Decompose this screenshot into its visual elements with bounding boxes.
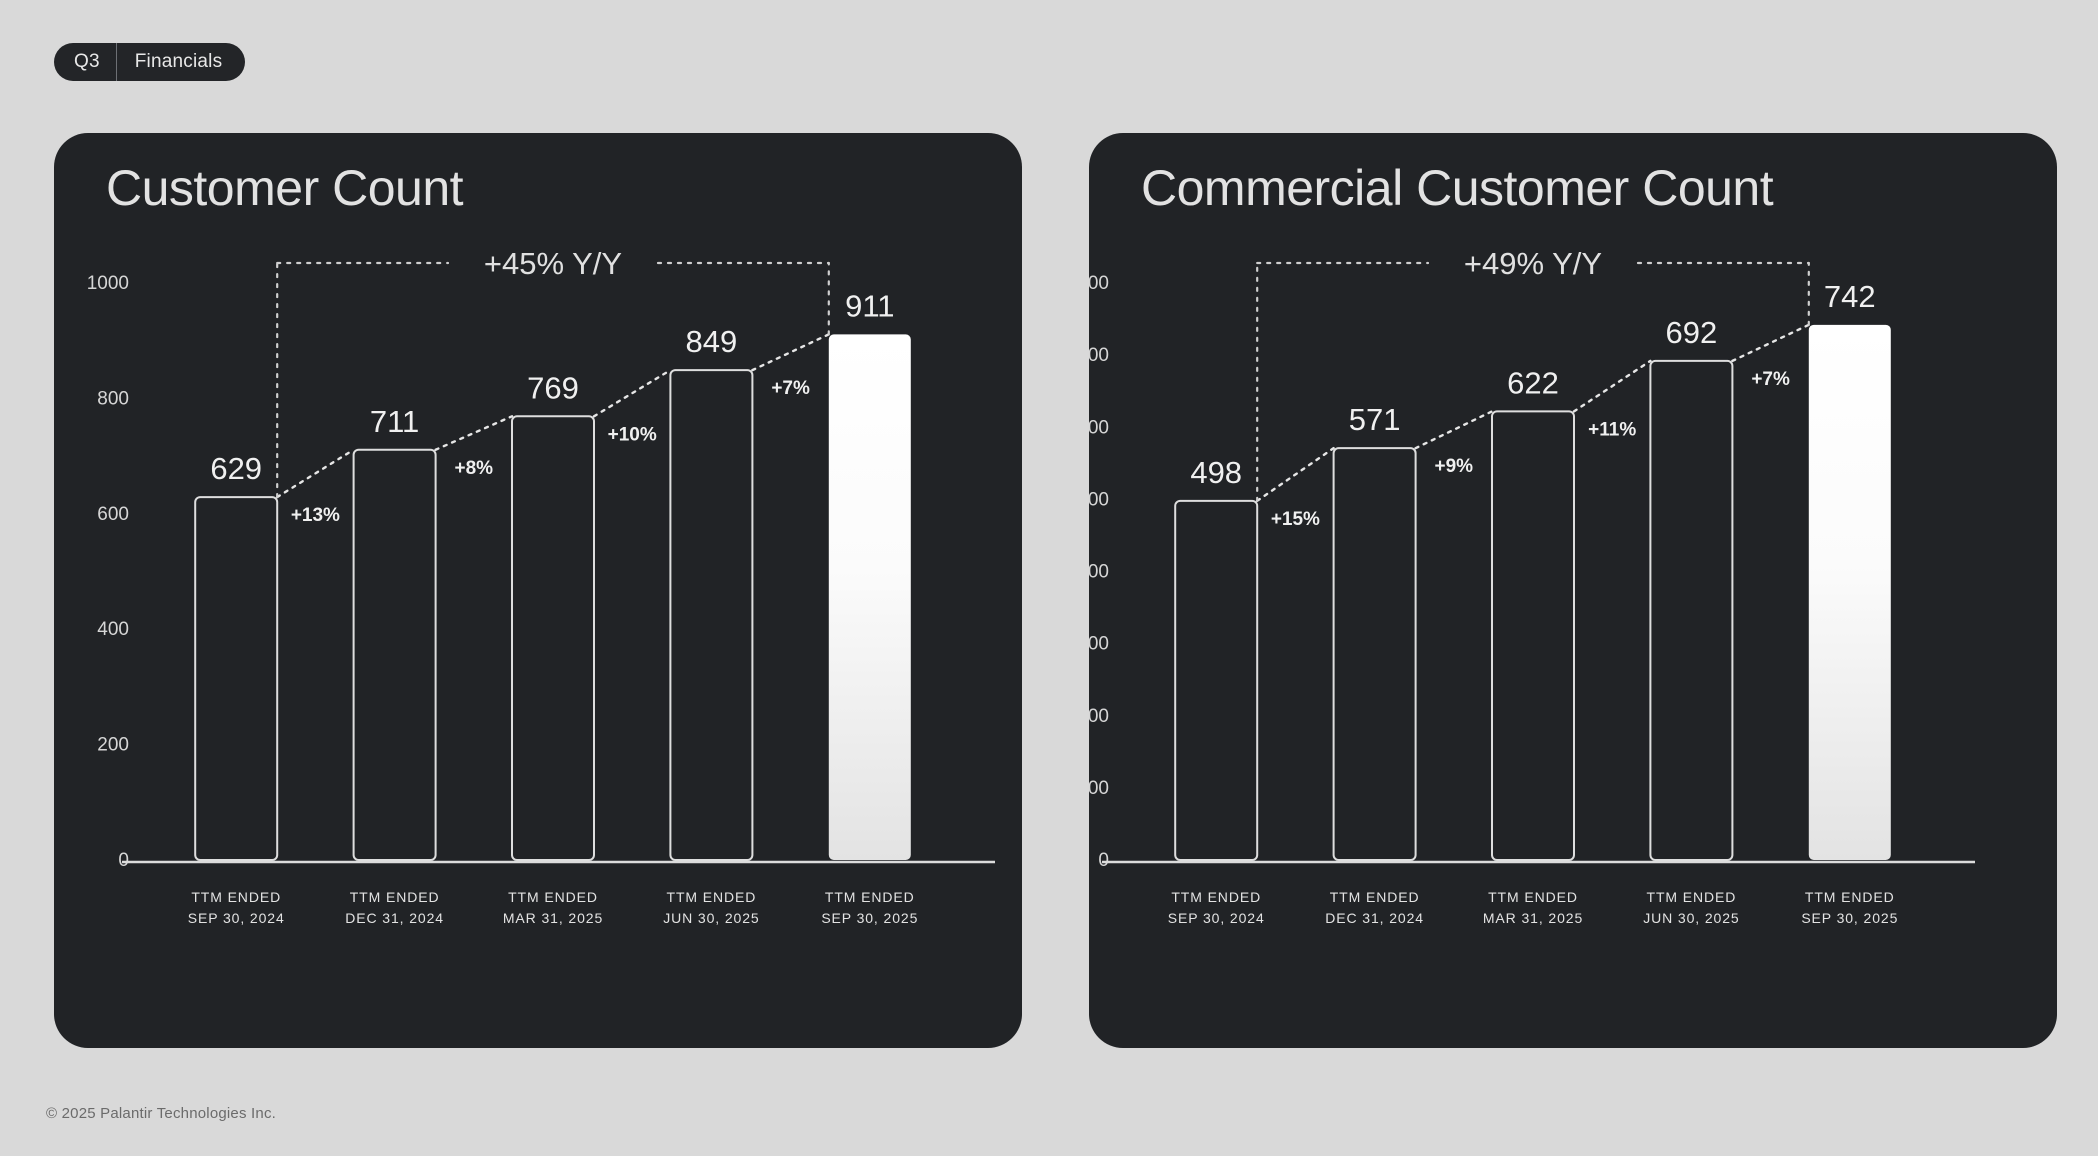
y-tick-label: 400: [97, 619, 129, 640]
growth-connector-line: [1257, 448, 1333, 501]
growth-label: +10%: [608, 424, 657, 445]
growth-connector-line: [1732, 325, 1808, 361]
growth-label: +7%: [1751, 369, 1790, 390]
x-axis-label: TTM ENDED: [508, 889, 598, 905]
growth-label: +15%: [1271, 509, 1320, 530]
slide-root: Q3 Financials Customer Count 10008006004…: [0, 0, 2098, 1156]
growth-connector-line: [1574, 361, 1650, 411]
growth-label: +9%: [1435, 456, 1474, 477]
y-tick-label: 700: [1089, 345, 1109, 366]
y-tick-label: 200: [1089, 706, 1109, 727]
y-axis-tick-labels: 8007006005004003002001000: [1089, 273, 1109, 871]
x-axis-label: TTM ENDED: [1647, 889, 1737, 905]
bar[interactable]: [1175, 501, 1257, 860]
x-axis-label: TTM ENDED: [825, 889, 915, 905]
growth-connector-line: [594, 370, 670, 416]
growth-label: +13%: [291, 505, 340, 526]
bar-value-label: 849: [686, 324, 738, 359]
bar-value-label: 692: [1666, 315, 1718, 350]
growth-connectors: +15%+9%+11%+7%: [1257, 325, 1809, 530]
x-axis-label: JUN 30, 2025: [1643, 910, 1739, 926]
growth-connector-line: [1416, 411, 1492, 448]
x-axis-label: TTM ENDED: [1330, 889, 1420, 905]
y-tick-label: 600: [1089, 417, 1109, 438]
x-axis-label: DEC 31, 2024: [1325, 910, 1424, 926]
y-tick-label: 0: [1098, 850, 1109, 871]
y-tick-label: 200: [97, 735, 129, 756]
bar[interactable]: [354, 450, 436, 860]
growth-connectors: +13%+8%+10%+7%: [277, 334, 829, 526]
growth-connector-line: [752, 334, 828, 370]
chart-plot-area: 8007006005004003002001000498571622692742…: [1089, 133, 2057, 1048]
bar-value-label: 498: [1190, 455, 1242, 490]
x-axis-label: TTM ENDED: [667, 889, 757, 905]
x-axis-category-labels: TTM ENDEDSEP 30, 2024TTM ENDEDDEC 31, 20…: [1168, 889, 1899, 926]
y-tick-label: 0: [118, 850, 129, 871]
bar-value-label: 769: [527, 370, 579, 405]
chart-plot-area: 10008006004002000629711769849911+13%+8%+…: [54, 133, 1022, 1048]
x-axis-label: TTM ENDED: [1488, 889, 1578, 905]
y-tick-label: 100: [1089, 778, 1109, 799]
bar[interactable]: [1809, 325, 1891, 860]
chart-card-commercial-customer-count: Commercial Customer Count 80070060050040…: [1089, 133, 2057, 1048]
bars: [195, 334, 911, 860]
y-tick-label: 1000: [87, 273, 129, 294]
x-axis-label: TTM ENDED: [350, 889, 440, 905]
y-tick-label: 400: [1089, 562, 1109, 583]
x-axis-label: DEC 31, 2024: [345, 910, 444, 926]
bar[interactable]: [1650, 361, 1732, 860]
growth-connector-line: [436, 416, 512, 449]
bar-value-label: 911: [845, 288, 894, 323]
x-axis-label: SEP 30, 2024: [1168, 910, 1265, 926]
bar-value-label: 629: [210, 451, 262, 486]
x-axis-label: SEP 30, 2025: [1801, 910, 1898, 926]
bar-value-label: 742: [1824, 279, 1876, 314]
bar[interactable]: [512, 416, 594, 860]
bar[interactable]: [829, 334, 911, 860]
yoy-annotation-label: +49% Y/Y: [1464, 246, 1602, 281]
x-axis-label: TTM ENDED: [191, 889, 281, 905]
growth-connector-line: [277, 450, 353, 497]
badge-quarter: Q3: [54, 43, 116, 81]
x-axis-label: TTM ENDED: [1805, 889, 1895, 905]
x-axis-label: MAR 31, 2025: [503, 910, 603, 926]
bar[interactable]: [670, 370, 752, 860]
yoy-annotation-label: +45% Y/Y: [484, 246, 622, 281]
x-axis-label: SEP 30, 2024: [188, 910, 285, 926]
y-tick-label: 600: [97, 504, 129, 525]
bar[interactable]: [1334, 448, 1416, 860]
y-tick-label: 300: [1089, 634, 1109, 655]
y-axis-tick-labels: 10008006004002000: [87, 273, 129, 871]
bar-value-label: 571: [1349, 402, 1401, 437]
bar[interactable]: [195, 497, 277, 860]
x-axis-label: SEP 30, 2025: [821, 910, 918, 926]
bar[interactable]: [1492, 411, 1574, 860]
y-tick-label: 800: [97, 388, 129, 409]
x-axis-category-labels: TTM ENDEDSEP 30, 2024TTM ENDEDDEC 31, 20…: [188, 889, 919, 926]
x-axis-label: JUN 30, 2025: [663, 910, 759, 926]
y-tick-label: 800: [1089, 273, 1109, 294]
bars: [1175, 325, 1891, 860]
chart-card-customer-count: Customer Count 1000800600400200062971176…: [54, 133, 1022, 1048]
x-axis-label: MAR 31, 2025: [1483, 910, 1583, 926]
growth-label: +11%: [1588, 419, 1636, 440]
header-badge[interactable]: Q3 Financials: [54, 43, 245, 81]
bar-value-label: 711: [370, 404, 419, 439]
y-tick-label: 500: [1089, 489, 1109, 510]
bar-value-label: 622: [1507, 365, 1559, 400]
x-axis-label: TTM ENDED: [1171, 889, 1261, 905]
growth-label: +7%: [771, 378, 810, 399]
footer-copyright: © 2025 Palantir Technologies Inc.: [46, 1105, 276, 1122]
badge-section: Financials: [116, 43, 246, 81]
growth-label: +8%: [455, 458, 494, 479]
